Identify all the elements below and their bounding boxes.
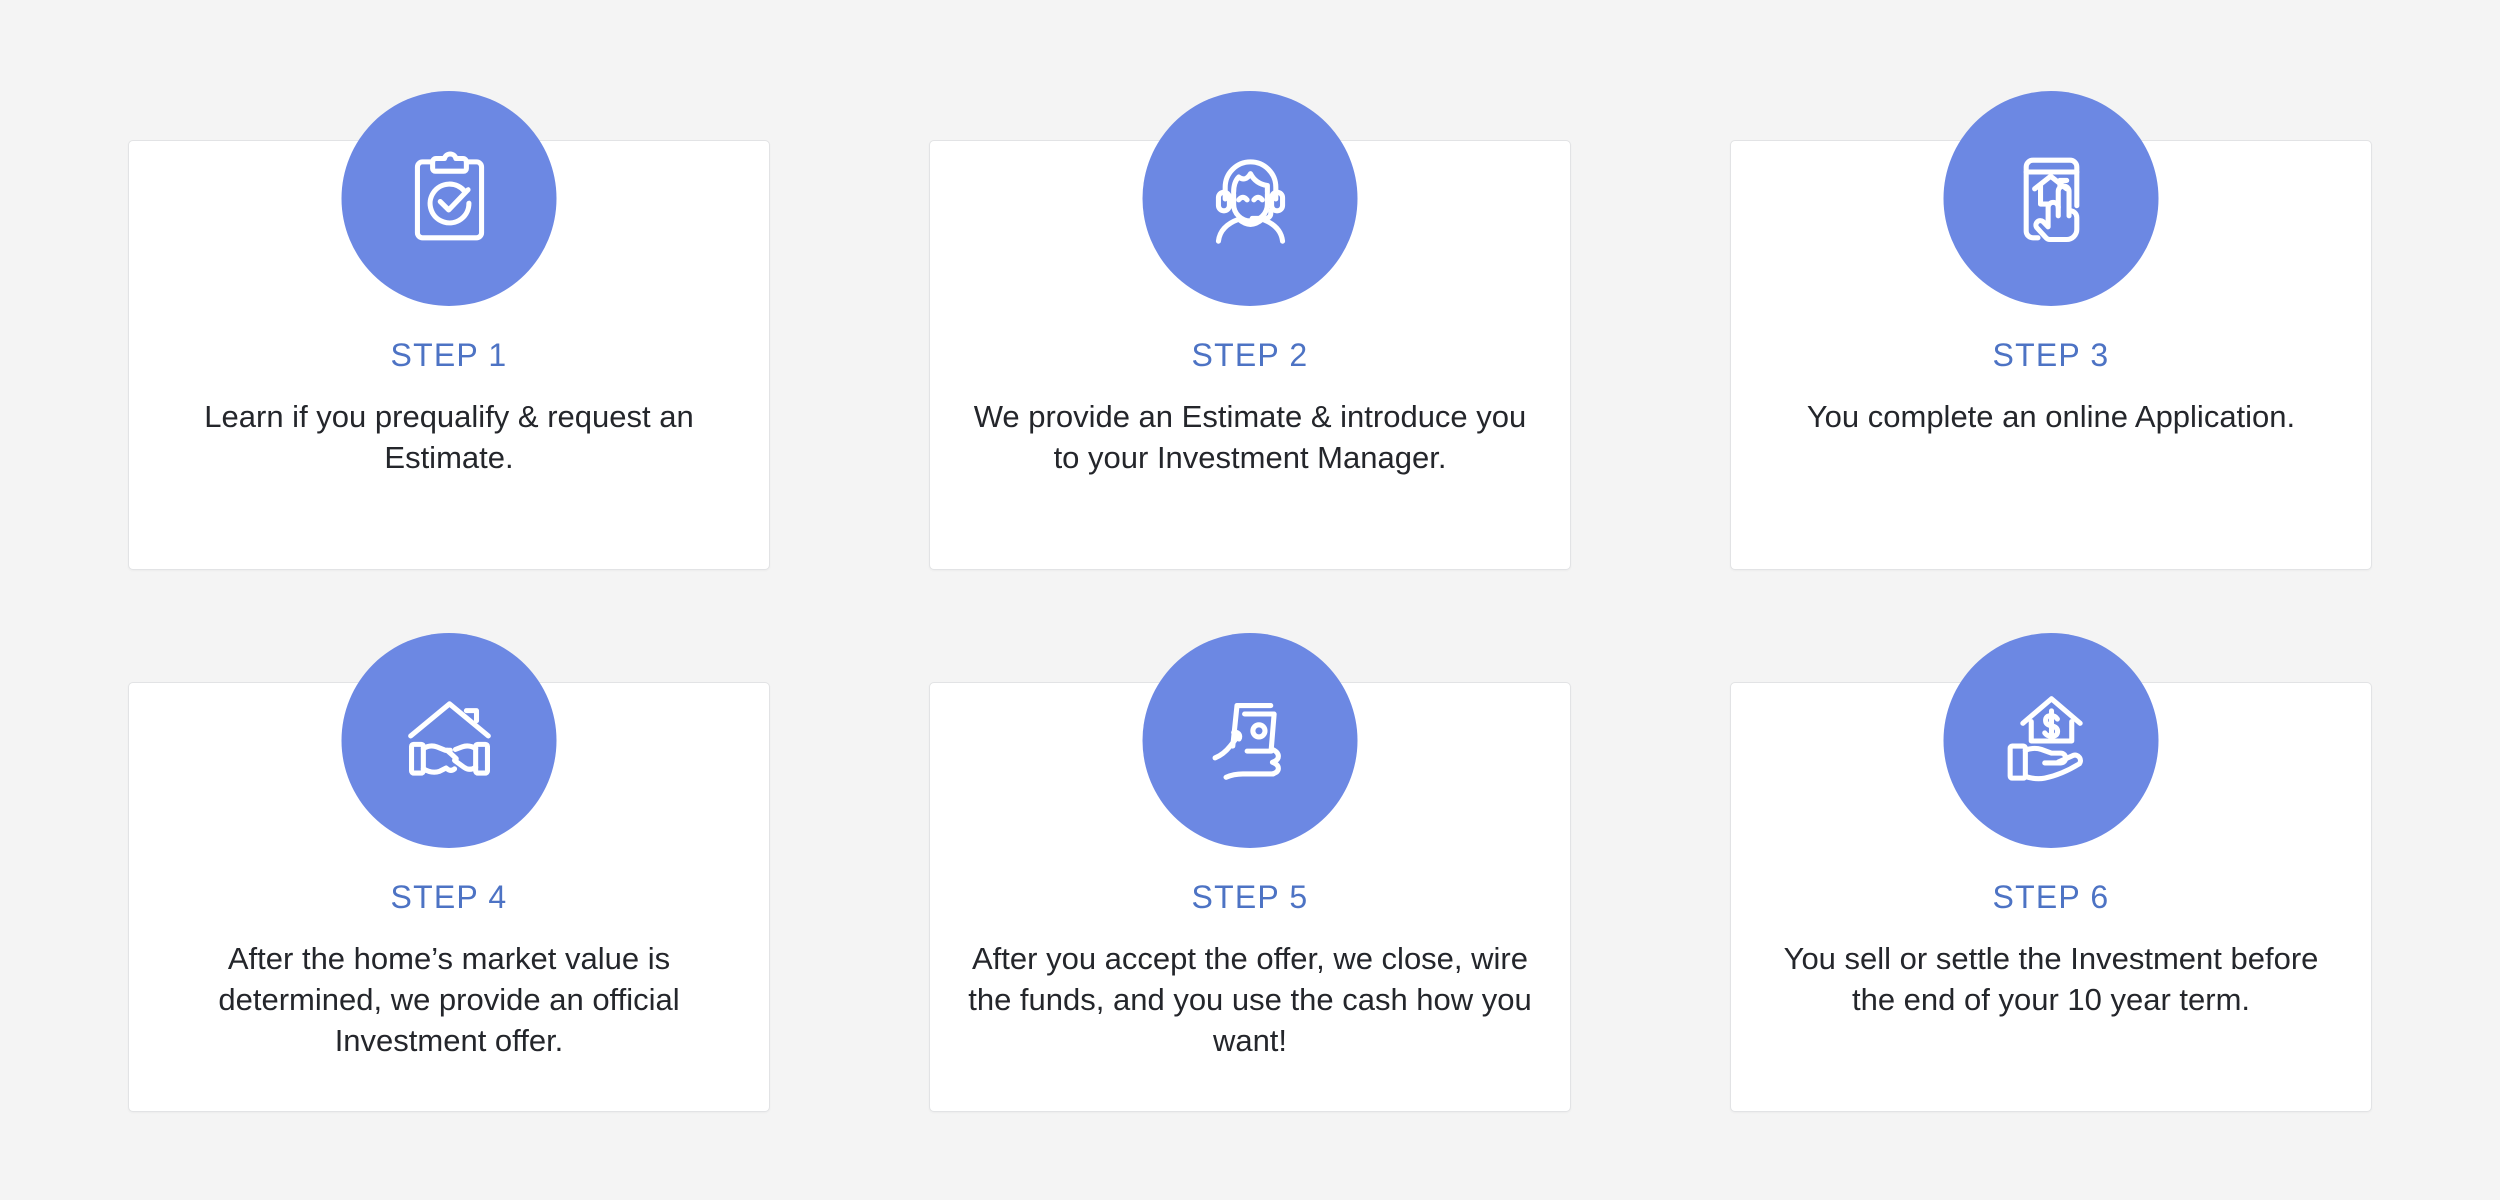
step-label: STEP 5 — [1192, 878, 1309, 916]
step-card-5: STEP 5 After you accept the offer, we cl… — [929, 682, 1571, 1112]
step-label: STEP 4 — [391, 878, 508, 916]
step-card-6: STEP 6 You sell or settle the Investment… — [1730, 682, 2372, 1112]
step-description: You complete an online Application. — [1807, 397, 2295, 438]
hand-holding-house-dollar-icon — [1944, 633, 2159, 848]
step-description: You sell or settle the Investment before… — [1769, 939, 2333, 1021]
step-card-1: STEP 1 Learn if you prequalify & request… — [128, 140, 770, 570]
step-card-3: STEP 3 You complete an online Applicatio… — [1730, 140, 2372, 570]
step-description: Learn if you prequalify & request an Est… — [167, 397, 731, 479]
how-it-works-steps-section: STEP 1 Learn if you prequalify & request… — [0, 0, 2500, 1200]
step-card-2: STEP 2 We provide an Estimate & introduc… — [929, 140, 1571, 570]
handshake-under-roof-icon — [342, 633, 557, 848]
step-label: STEP 3 — [1993, 336, 2110, 374]
step-label: STEP 1 — [391, 336, 508, 374]
hand-holding-cash-icon — [1143, 633, 1358, 848]
clipboard-check-icon — [342, 91, 557, 306]
step-label: STEP 2 — [1192, 336, 1309, 374]
step-card-4: STEP 4 After the home’s market value is … — [128, 682, 770, 1112]
steps-grid: STEP 1 Learn if you prequalify & request… — [128, 140, 2372, 1112]
support-agent-headset-icon — [1143, 91, 1358, 306]
step-description: After you accept the offer, we close, wi… — [968, 939, 1532, 1062]
step-description: We provide an Estimate & introduce you t… — [968, 397, 1532, 479]
phone-house-tap-icon — [1944, 91, 2159, 306]
step-label: STEP 6 — [1993, 878, 2110, 916]
step-description: After the home’s market value is determi… — [167, 939, 731, 1062]
